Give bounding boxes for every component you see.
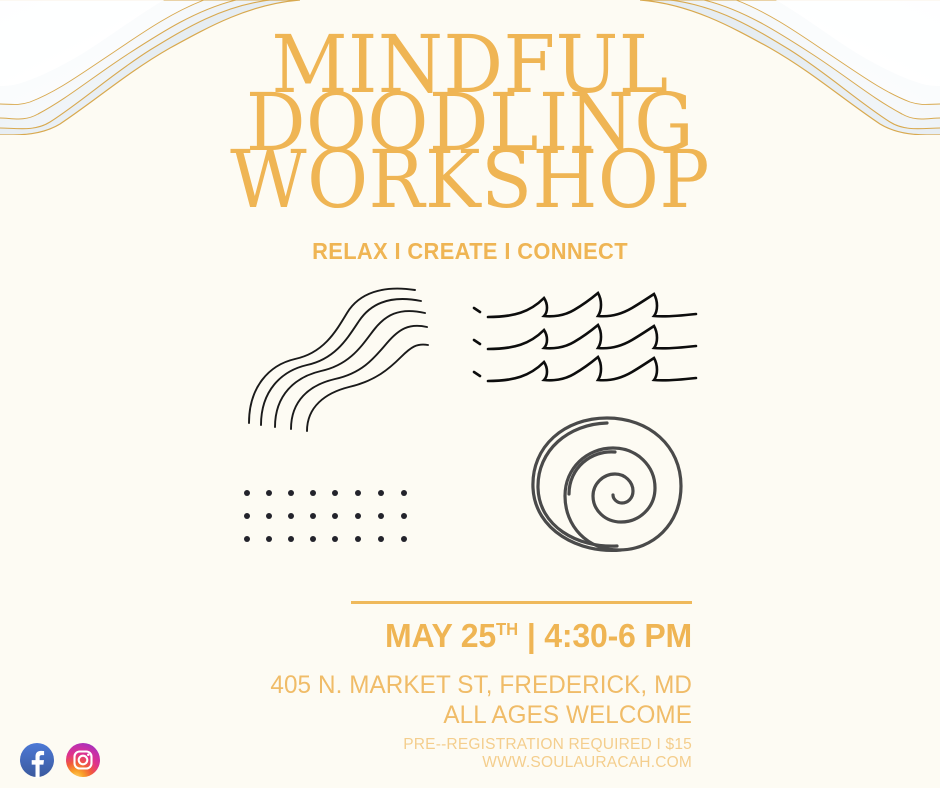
facebook-icon[interactable] <box>19 742 55 778</box>
poster-tagline: RELAX I CREATE I CONNECT <box>24 238 917 265</box>
event-details: MAY 25TH | 4:30-6 PM 405 N. MARKET ST, F… <box>200 618 692 772</box>
event-website[interactable]: WWW.SOULAURACAH.COM <box>215 754 692 772</box>
event-address: 405 N. MARKET ST, FREDERICK, MD <box>215 670 692 701</box>
date-ordinal: TH <box>496 619 518 639</box>
event-audience: ALL AGES WELCOME <box>215 700 692 731</box>
social-links <box>19 742 101 778</box>
wave-rows-doodle <box>468 290 703 390</box>
swirl-lines-doodle <box>243 283 428 435</box>
poster-title: MINDFUL DOODLING WORKSHOP <box>0 12 940 209</box>
date-prefix: MAY 25 <box>385 617 496 654</box>
title-line-3: WORKSHOP <box>33 151 907 209</box>
event-date-time: MAY 25TH | 4:30-6 PM <box>215 618 692 654</box>
section-divider <box>351 601 692 604</box>
flyer-canvas: MINDFUL DOODLING WORKSHOP RELAX I CREATE… <box>0 0 940 788</box>
spiral-doodle <box>521 408 693 570</box>
event-registration: PRE--REGISTRATION REQUIRED I $15 <box>215 736 692 754</box>
instagram-icon[interactable] <box>65 742 101 778</box>
date-suffix: | 4:30-6 PM <box>518 617 692 654</box>
dot-grid-doodle <box>240 486 415 554</box>
